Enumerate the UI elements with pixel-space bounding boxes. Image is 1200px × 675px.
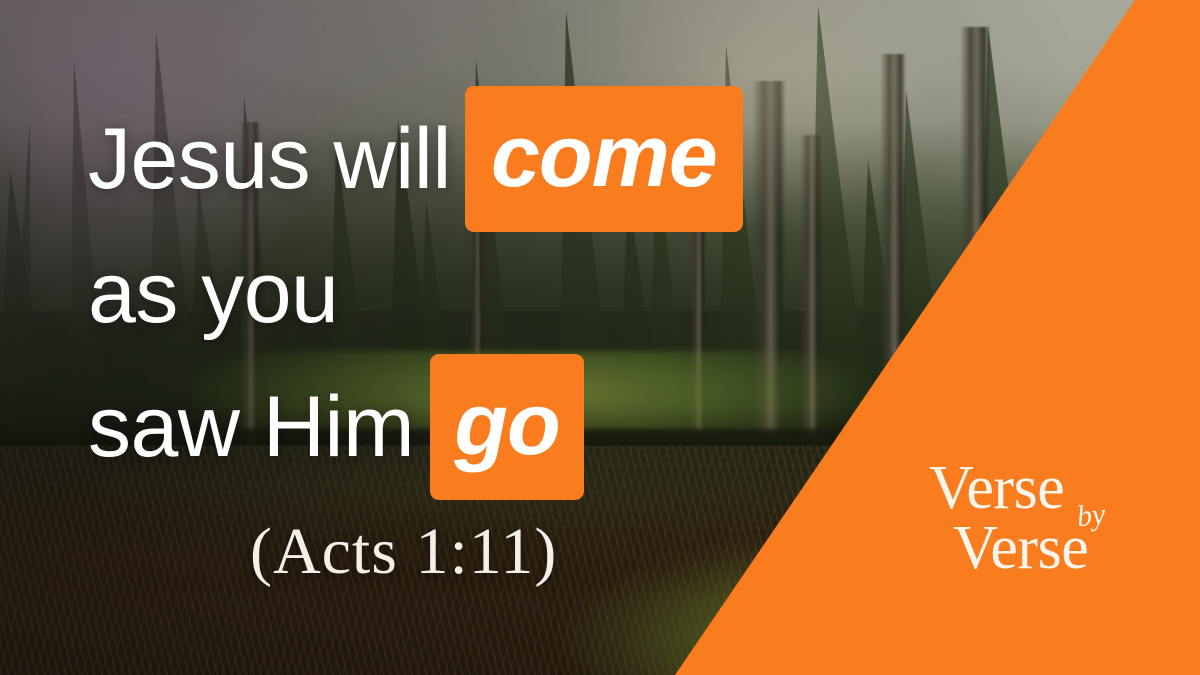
verse-line-3-plain: saw Him [88,384,414,470]
verse-by-verse-logo: Verse by Verse [925,455,1155,600]
verse-line-3: saw Him go [88,354,908,500]
highlight-go: go [430,354,584,500]
verse-line-1-plain: Jesus will [88,116,451,202]
highlight-come: come [465,86,743,232]
verse-text-block: Jesus will come as you saw Him go [88,86,908,500]
verse-line-1: Jesus will come [88,86,908,232]
verse-line-2: as you [88,232,908,354]
slide-canvas: Jesus will come as you saw Him go (Acts … [0,0,1200,675]
logo-word-top: Verse [929,457,1064,519]
scripture-reference: (Acts 1:11) [250,514,557,590]
logo-word-bottom: Verse [953,517,1088,579]
verse-line-2-plain: as you [88,250,338,336]
